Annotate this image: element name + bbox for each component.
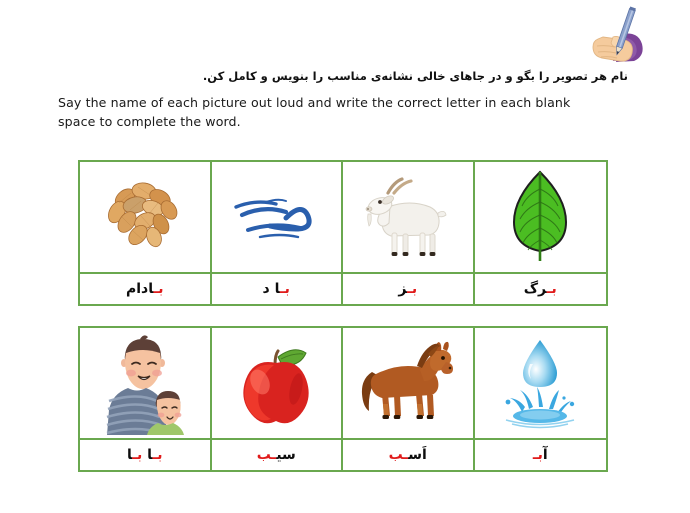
word-label-baba: بـا بـا	[127, 448, 163, 462]
word-label-boz: بـز	[398, 282, 417, 296]
almonds-image	[97, 174, 193, 260]
word-cell-wind[interactable]: بـا د	[212, 274, 344, 304]
goat-image	[358, 173, 458, 261]
picture-cell-water-drop	[475, 328, 607, 440]
picture-cell-apple	[212, 328, 344, 440]
hand-writing-pencil-icon	[582, 6, 654, 62]
word-row-1: بـادام بـا د بـز بـرگ	[80, 274, 606, 304]
word-label-badam: بـادام	[126, 282, 164, 296]
apple-image	[234, 339, 318, 427]
picture-row-2	[80, 328, 606, 440]
word-cell-father-child[interactable]: بـا بـا	[80, 440, 212, 470]
wind-image	[226, 182, 326, 252]
picture-row-1	[80, 162, 606, 274]
word-cell-almonds[interactable]: بـادام	[80, 274, 212, 304]
instruction-persian: نام هر تصویر را بگو و در جاهای خالی نشان…	[58, 68, 630, 85]
picture-cell-wind	[212, 162, 344, 274]
word-label-sib: سیـب	[257, 448, 296, 462]
word-cell-horse[interactable]: اَسـب	[343, 440, 475, 470]
water-drop-image	[496, 336, 584, 430]
word-row-2: بـا بـا سیـب اَسـب آبـ	[80, 440, 606, 470]
word-label-ab: آبـ	[533, 448, 548, 462]
word-cell-leaf[interactable]: بـرگ	[475, 274, 607, 304]
worksheet-table-2: بـا بـا سیـب اَسـب آبـ	[78, 326, 608, 472]
worksheet-table-1: بـادام بـا د بـز بـرگ	[78, 160, 608, 306]
word-cell-apple[interactable]: سیـب	[212, 440, 344, 470]
word-label-asb: اَسـب	[389, 448, 427, 462]
picture-cell-father-child	[80, 328, 212, 440]
horse-image	[356, 340, 460, 426]
instructions-block: نام هر تصویر را بگو و در جاهای خالی نشان…	[58, 68, 630, 131]
father-and-child-image	[98, 331, 192, 435]
picture-cell-almonds	[80, 162, 212, 274]
word-cell-water[interactable]: آبـ	[475, 440, 607, 470]
picture-cell-horse	[343, 328, 475, 440]
word-label-barg: بـرگ	[524, 282, 557, 296]
leaf-image	[505, 169, 575, 265]
picture-cell-goat	[343, 162, 475, 274]
picture-cell-leaf	[475, 162, 607, 274]
instruction-english: Say the name of each picture out loud an…	[58, 94, 603, 131]
word-label-bad: بـا د	[263, 282, 290, 296]
word-cell-goat[interactable]: بـز	[343, 274, 475, 304]
